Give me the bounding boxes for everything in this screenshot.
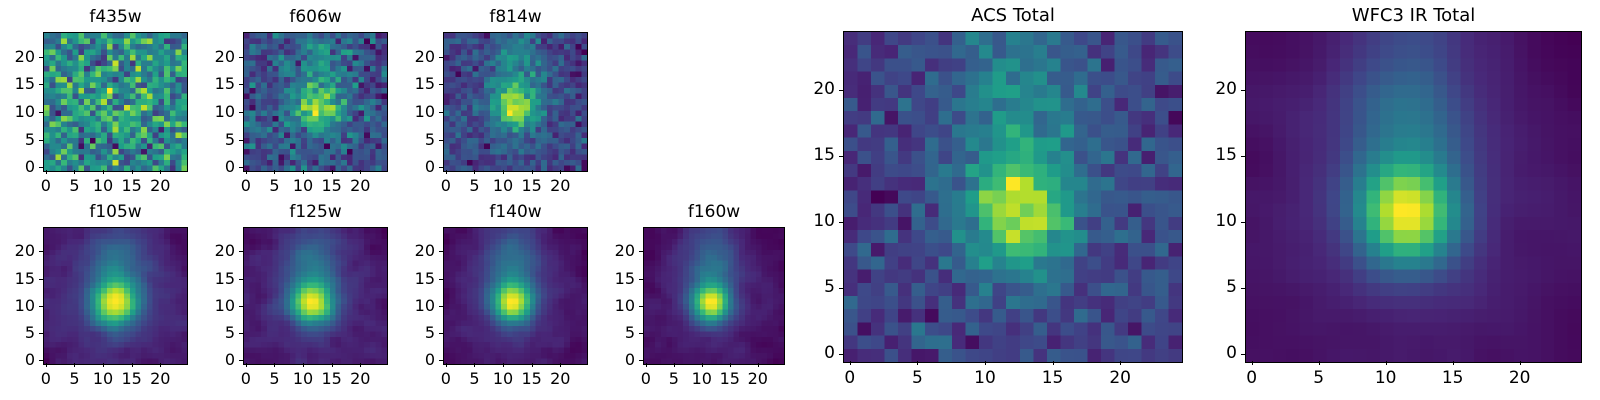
matplotlib-figure: f435w0510152005101520f606w05101520051015… [0, 0, 1600, 400]
xtick-f105w-15 [132, 363, 133, 367]
yticklabel-f105w-10: 10 [0, 298, 35, 314]
ytick-f606w-20 [239, 57, 243, 58]
panel-acs-total: ACS Total0510152005101520 [783, 1, 1193, 395]
ytick-f105w-10 [39, 306, 43, 307]
xtick-f140w-5 [474, 363, 475, 367]
xtick-f160w-10 [702, 363, 703, 367]
yticklabel-f140w-10: 10 [383, 298, 435, 314]
heatmap-f140w [443, 227, 588, 365]
ytick-wfc3-ir-total-0 [1241, 354, 1245, 355]
xtick-f814w-10 [503, 170, 504, 174]
yticklabel-f814w-15: 15 [383, 76, 435, 92]
xtick-f140w-10 [503, 363, 504, 367]
xtick-f435w-5 [74, 170, 75, 174]
yticklabel-f160w-5: 5 [583, 325, 635, 341]
xtick-acs-total-10 [985, 361, 986, 365]
heatmap-canvas-f125w [244, 228, 387, 364]
ytick-f814w-15 [439, 84, 443, 85]
yticklabel-f606w-5: 5 [183, 132, 235, 148]
yticklabel-f105w-0: 0 [0, 352, 35, 368]
ytick-f140w-5 [439, 333, 443, 334]
ytick-acs-total-20 [839, 90, 843, 91]
panel-f140w: f140w0510152005101520 [383, 197, 598, 397]
yticklabel-f606w-15: 15 [183, 76, 235, 92]
ytick-f105w-5 [39, 333, 43, 334]
xtick-f606w-10 [303, 170, 304, 174]
xtick-f814w-5 [474, 170, 475, 174]
ytick-wfc3-ir-total-5 [1241, 288, 1245, 289]
heatmap-f160w [643, 227, 785, 365]
heatmap-canvas-f105w [44, 228, 187, 364]
xtick-wfc3-ir-total-5 [1319, 361, 1320, 365]
ytick-f140w-10 [439, 306, 443, 307]
xtick-f435w-20 [160, 170, 161, 174]
xtick-f125w-5 [274, 363, 275, 367]
heatmap-f105w [43, 227, 188, 365]
panel-f160w: f160w0510152005101520 [583, 197, 795, 397]
panel-title-f125w: f125w [243, 204, 388, 221]
xticklabel-acs-total-15: 15 [1033, 370, 1073, 387]
xtick-f435w-0 [46, 170, 47, 174]
ytick-f160w-10 [639, 306, 643, 307]
ytick-acs-total-10 [839, 222, 843, 223]
xticklabel-acs-total-10: 10 [965, 370, 1005, 387]
panel-title-f606w: f606w [243, 9, 388, 26]
yticklabel-f140w-15: 15 [383, 271, 435, 287]
xtick-f160w-5 [674, 363, 675, 367]
xticklabel-f125w-20: 20 [340, 371, 380, 387]
yticklabel-f140w-5: 5 [383, 325, 435, 341]
yticklabel-f606w-20: 20 [183, 49, 235, 65]
yticklabel-f105w-15: 15 [0, 271, 35, 287]
xtick-f140w-20 [560, 363, 561, 367]
xtick-acs-total-5 [917, 361, 918, 365]
xtick-f125w-20 [360, 363, 361, 367]
xticklabel-wfc3-ir-total-10: 10 [1366, 370, 1406, 387]
xtick-f606w-0 [246, 170, 247, 174]
xticklabel-wfc3-ir-total-15: 15 [1433, 370, 1473, 387]
xtick-wfc3-ir-total-10 [1386, 361, 1387, 365]
xtick-f105w-0 [46, 363, 47, 367]
panel-title-f814w: f814w [443, 9, 588, 26]
ytick-acs-total-5 [839, 288, 843, 289]
xtick-f814w-15 [532, 170, 533, 174]
xtick-wfc3-ir-total-20 [1520, 361, 1521, 365]
panel-title-f105w: f105w [43, 204, 188, 221]
xtick-f125w-10 [303, 363, 304, 367]
xticklabel-wfc3-ir-total-5: 5 [1299, 370, 1339, 387]
ytick-f435w-5 [39, 140, 43, 141]
xtick-acs-total-20 [1120, 361, 1121, 365]
panel-title-f140w: f140w [443, 204, 588, 221]
panel-title-wfc3-ir-total: WFC3 IR Total [1245, 7, 1582, 25]
ytick-wfc3-ir-total-20 [1241, 90, 1245, 91]
ytick-f125w-0 [239, 360, 243, 361]
heatmap-canvas-f140w [444, 228, 587, 364]
ytick-acs-total-0 [839, 354, 843, 355]
xticklabel-wfc3-ir-total-20: 20 [1500, 370, 1540, 387]
ytick-f125w-10 [239, 306, 243, 307]
yticklabel-f125w-5: 5 [183, 325, 235, 341]
xticklabel-f435w-20: 20 [140, 178, 180, 194]
heatmap-wfc3-ir-total [1245, 31, 1582, 363]
xtick-f140w-0 [446, 363, 447, 367]
heatmap-canvas-wfc3-ir-total [1246, 32, 1581, 362]
xtick-f140w-15 [532, 363, 533, 367]
heatmap-canvas-f606w [244, 33, 387, 171]
ytick-f125w-15 [239, 279, 243, 280]
ytick-wfc3-ir-total-10 [1241, 222, 1245, 223]
yticklabel-wfc3-ir-total-15: 15 [1185, 147, 1237, 164]
xtick-f435w-10 [103, 170, 104, 174]
ytick-f814w-10 [439, 112, 443, 113]
xtick-f814w-20 [560, 170, 561, 174]
yticklabel-f105w-5: 5 [0, 325, 35, 341]
panel-title-acs-total: ACS Total [843, 7, 1183, 25]
yticklabel-f125w-15: 15 [183, 271, 235, 287]
panel-title-f160w: f160w [643, 204, 785, 221]
xtick-f606w-5 [274, 170, 275, 174]
ytick-f160w-5 [639, 333, 643, 334]
xtick-f105w-20 [160, 363, 161, 367]
yticklabel-f140w-20: 20 [383, 243, 435, 259]
heatmap-f814w [443, 32, 588, 172]
panel-wfc3-ir-total: WFC3 IR Total0510152005101520 [1185, 1, 1592, 395]
ytick-f160w-0 [639, 360, 643, 361]
yticklabel-wfc3-ir-total-10: 10 [1185, 213, 1237, 230]
yticklabel-acs-total-0: 0 [783, 345, 835, 362]
yticklabel-f606w-10: 10 [183, 104, 235, 120]
ytick-f606w-10 [239, 112, 243, 113]
ytick-f814w-20 [439, 57, 443, 58]
ytick-f160w-15 [639, 279, 643, 280]
xtick-f125w-0 [246, 363, 247, 367]
heatmap-canvas-f435w [44, 33, 187, 171]
xtick-wfc3-ir-total-0 [1252, 361, 1253, 365]
panel-f814w: f814w0510152005101520 [383, 2, 598, 204]
xticklabel-f105w-20: 20 [140, 371, 180, 387]
xtick-acs-total-0 [850, 361, 851, 365]
xticklabel-acs-total-5: 5 [897, 370, 937, 387]
yticklabel-f125w-20: 20 [183, 243, 235, 259]
xtick-f105w-10 [103, 363, 104, 367]
xticklabel-f606w-20: 20 [340, 178, 380, 194]
xticklabel-wfc3-ir-total-0: 0 [1232, 370, 1272, 387]
panel-f105w: f105w0510152005101520 [0, 197, 198, 397]
ytick-f435w-20 [39, 57, 43, 58]
yticklabel-f814w-10: 10 [383, 104, 435, 120]
ytick-f814w-5 [439, 140, 443, 141]
panel-f125w: f125w0510152005101520 [183, 197, 398, 397]
ytick-f140w-0 [439, 360, 443, 361]
yticklabel-f105w-20: 20 [0, 243, 35, 259]
ytick-f105w-15 [39, 279, 43, 280]
ytick-f125w-20 [239, 251, 243, 252]
yticklabel-f160w-10: 10 [583, 298, 635, 314]
yticklabel-acs-total-10: 10 [783, 213, 835, 230]
heatmap-canvas-acs-total [844, 32, 1182, 362]
ytick-f140w-15 [439, 279, 443, 280]
yticklabel-f814w-0: 0 [383, 159, 435, 175]
heatmap-f435w [43, 32, 188, 172]
yticklabel-f606w-0: 0 [183, 159, 235, 175]
yticklabel-f435w-15: 15 [0, 76, 35, 92]
ytick-acs-total-15 [839, 156, 843, 157]
yticklabel-wfc3-ir-total-20: 20 [1185, 81, 1237, 98]
panel-f435w: f435w0510152005101520 [0, 2, 198, 204]
ytick-f435w-15 [39, 84, 43, 85]
yticklabel-acs-total-20: 20 [783, 81, 835, 98]
heatmap-f125w [243, 227, 388, 365]
xtick-f435w-15 [132, 170, 133, 174]
yticklabel-f140w-0: 0 [383, 352, 435, 368]
yticklabel-f160w-15: 15 [583, 271, 635, 287]
ytick-f606w-15 [239, 84, 243, 85]
panel-f606w: f606w0510152005101520 [183, 2, 398, 204]
ytick-f105w-0 [39, 360, 43, 361]
xtick-wfc3-ir-total-15 [1453, 361, 1454, 365]
ytick-wfc3-ir-total-15 [1241, 156, 1245, 157]
yticklabel-acs-total-15: 15 [783, 147, 835, 164]
heatmap-canvas-f160w [644, 228, 784, 364]
yticklabel-wfc3-ir-total-5: 5 [1185, 279, 1237, 296]
xticklabel-f814w-20: 20 [540, 178, 580, 194]
heatmap-acs-total [843, 31, 1183, 363]
xtick-f606w-15 [332, 170, 333, 174]
heatmap-f606w [243, 32, 388, 172]
xtick-f160w-0 [646, 363, 647, 367]
xticklabel-acs-total-20: 20 [1100, 370, 1140, 387]
yticklabel-acs-total-5: 5 [783, 279, 835, 296]
yticklabel-f160w-20: 20 [583, 243, 635, 259]
xtick-f814w-0 [446, 170, 447, 174]
yticklabel-f125w-10: 10 [183, 298, 235, 314]
xtick-f606w-20 [360, 170, 361, 174]
panel-title-f435w: f435w [43, 9, 188, 26]
yticklabel-f435w-20: 20 [0, 49, 35, 65]
xtick-f125w-15 [332, 363, 333, 367]
xtick-acs-total-15 [1053, 361, 1054, 365]
xticklabel-f160w-20: 20 [738, 371, 778, 387]
ytick-f160w-20 [639, 251, 643, 252]
ytick-f140w-20 [439, 251, 443, 252]
ytick-f814w-0 [439, 167, 443, 168]
yticklabel-f160w-0: 0 [583, 352, 635, 368]
yticklabel-f125w-0: 0 [183, 352, 235, 368]
xtick-f160w-20 [758, 363, 759, 367]
heatmap-canvas-f814w [444, 33, 587, 171]
ytick-f435w-0 [39, 167, 43, 168]
xtick-f160w-15 [730, 363, 731, 367]
ytick-f125w-5 [239, 333, 243, 334]
yticklabel-f435w-10: 10 [0, 104, 35, 120]
ytick-f105w-20 [39, 251, 43, 252]
ytick-f606w-5 [239, 140, 243, 141]
yticklabel-f435w-5: 5 [0, 132, 35, 148]
ytick-f435w-10 [39, 112, 43, 113]
xticklabel-f140w-20: 20 [540, 371, 580, 387]
yticklabel-f435w-0: 0 [0, 159, 35, 175]
xticklabel-acs-total-0: 0 [830, 370, 870, 387]
ytick-f606w-0 [239, 167, 243, 168]
xtick-f105w-5 [74, 363, 75, 367]
yticklabel-f814w-5: 5 [383, 132, 435, 148]
yticklabel-wfc3-ir-total-0: 0 [1185, 345, 1237, 362]
yticklabel-f814w-20: 20 [383, 49, 435, 65]
